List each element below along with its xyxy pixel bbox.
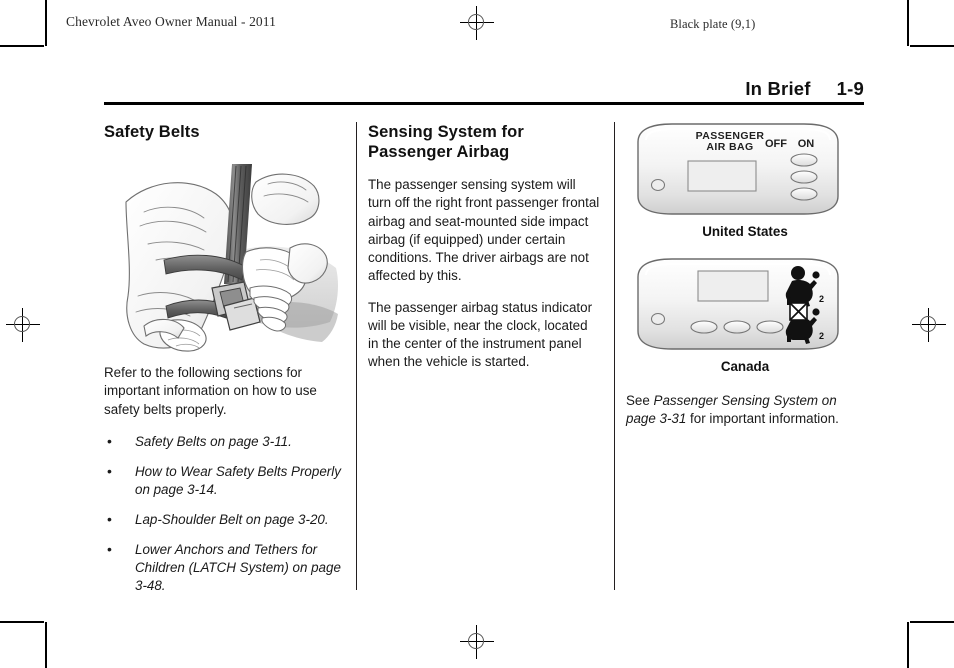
- crop-mark-top-left-vertical: [45, 0, 47, 46]
- column-right: PASSENGER AIR BAG OFF ON United States: [626, 122, 864, 428]
- column-left: Safety Belts: [104, 122, 342, 606]
- column-divider-right: [614, 122, 615, 590]
- us-label-off: OFF: [765, 138, 787, 150]
- sensing-system-paragraph-1: The passenger sensing system will turn o…: [368, 176, 600, 285]
- us-label-line2: AIR BAG: [706, 141, 753, 153]
- column-divider-left: [356, 122, 357, 590]
- heading-sensing-system: Sensing System for Passenger Airbag: [368, 122, 600, 162]
- list-item[interactable]: • Safety Belts on page 3-11.: [104, 433, 342, 451]
- running-head-left: Chevrolet Aveo Owner Manual - 2011: [66, 14, 276, 30]
- safety-belts-intro: Refer to the following sections for impo…: [104, 364, 342, 419]
- bullet-icon: •: [107, 510, 112, 529]
- list-item-label: Lower Anchors and Tethers for Children (…: [135, 542, 341, 593]
- bullet-icon: •: [107, 432, 112, 451]
- safety-belt-illustration: [104, 156, 342, 352]
- crop-mark-bottom-left-horizontal: [0, 621, 44, 623]
- running-head-right: Black plate (9,1): [670, 17, 755, 32]
- bullet-icon: •: [107, 540, 112, 559]
- svg-text:2: 2: [819, 294, 824, 304]
- crop-mark-top-right-vertical: [907, 0, 909, 46]
- page-header: In Brief1-9: [104, 78, 864, 100]
- registration-mark-top: [460, 6, 494, 40]
- list-item[interactable]: • Lower Anchors and Tethers for Children…: [104, 541, 342, 595]
- united-states-airbag-indicator: PASSENGER AIR BAG OFF ON: [626, 122, 864, 218]
- crop-mark-top-right-horizontal: [910, 45, 954, 47]
- passenger-sensing-cross-reference: See Passenger Sensing System on page 3-3…: [626, 392, 864, 428]
- list-item-label: Safety Belts on page 3-11.: [135, 434, 292, 449]
- page-section-title: In Brief: [745, 78, 810, 100]
- safety-belts-reference-list: • Safety Belts on page 3-11. • How to We…: [104, 433, 342, 595]
- bullet-icon: •: [107, 462, 112, 481]
- sensing-system-paragraph-2: The passenger airbag status indicator wi…: [368, 299, 600, 372]
- us-label-on: ON: [798, 138, 815, 150]
- registration-mark-left: [6, 308, 40, 342]
- list-item[interactable]: • Lap-Shoulder Belt on page 3-20.: [104, 511, 342, 529]
- cross-reference-lead: See: [626, 393, 654, 408]
- column-middle: Sensing System for Passenger Airbag The …: [368, 122, 600, 371]
- crop-mark-bottom-left-vertical: [45, 622, 47, 668]
- caption-united-states: United States: [626, 224, 864, 239]
- heading-safety-belts: Safety Belts: [104, 122, 342, 142]
- crop-mark-top-left-horizontal: [0, 45, 44, 47]
- cross-reference-tail: for important information.: [686, 411, 839, 426]
- crop-mark-bottom-right-horizontal: [910, 621, 954, 623]
- page-number: 1-9: [837, 78, 864, 100]
- caption-canada: Canada: [626, 359, 864, 374]
- crop-mark-bottom-right-vertical: [907, 622, 909, 668]
- page-header-rule: [104, 102, 864, 105]
- canada-airbag-indicator: 2 2: [626, 257, 864, 353]
- list-item[interactable]: • How to Wear Safety Belts Properly on p…: [104, 463, 342, 499]
- registration-mark-bottom: [460, 625, 494, 659]
- svg-text:2: 2: [819, 331, 824, 341]
- registration-mark-right: [912, 308, 946, 342]
- list-item-label: Lap-Shoulder Belt on page 3-20.: [135, 512, 329, 527]
- list-item-label: How to Wear Safety Belts Properly on pag…: [135, 464, 341, 497]
